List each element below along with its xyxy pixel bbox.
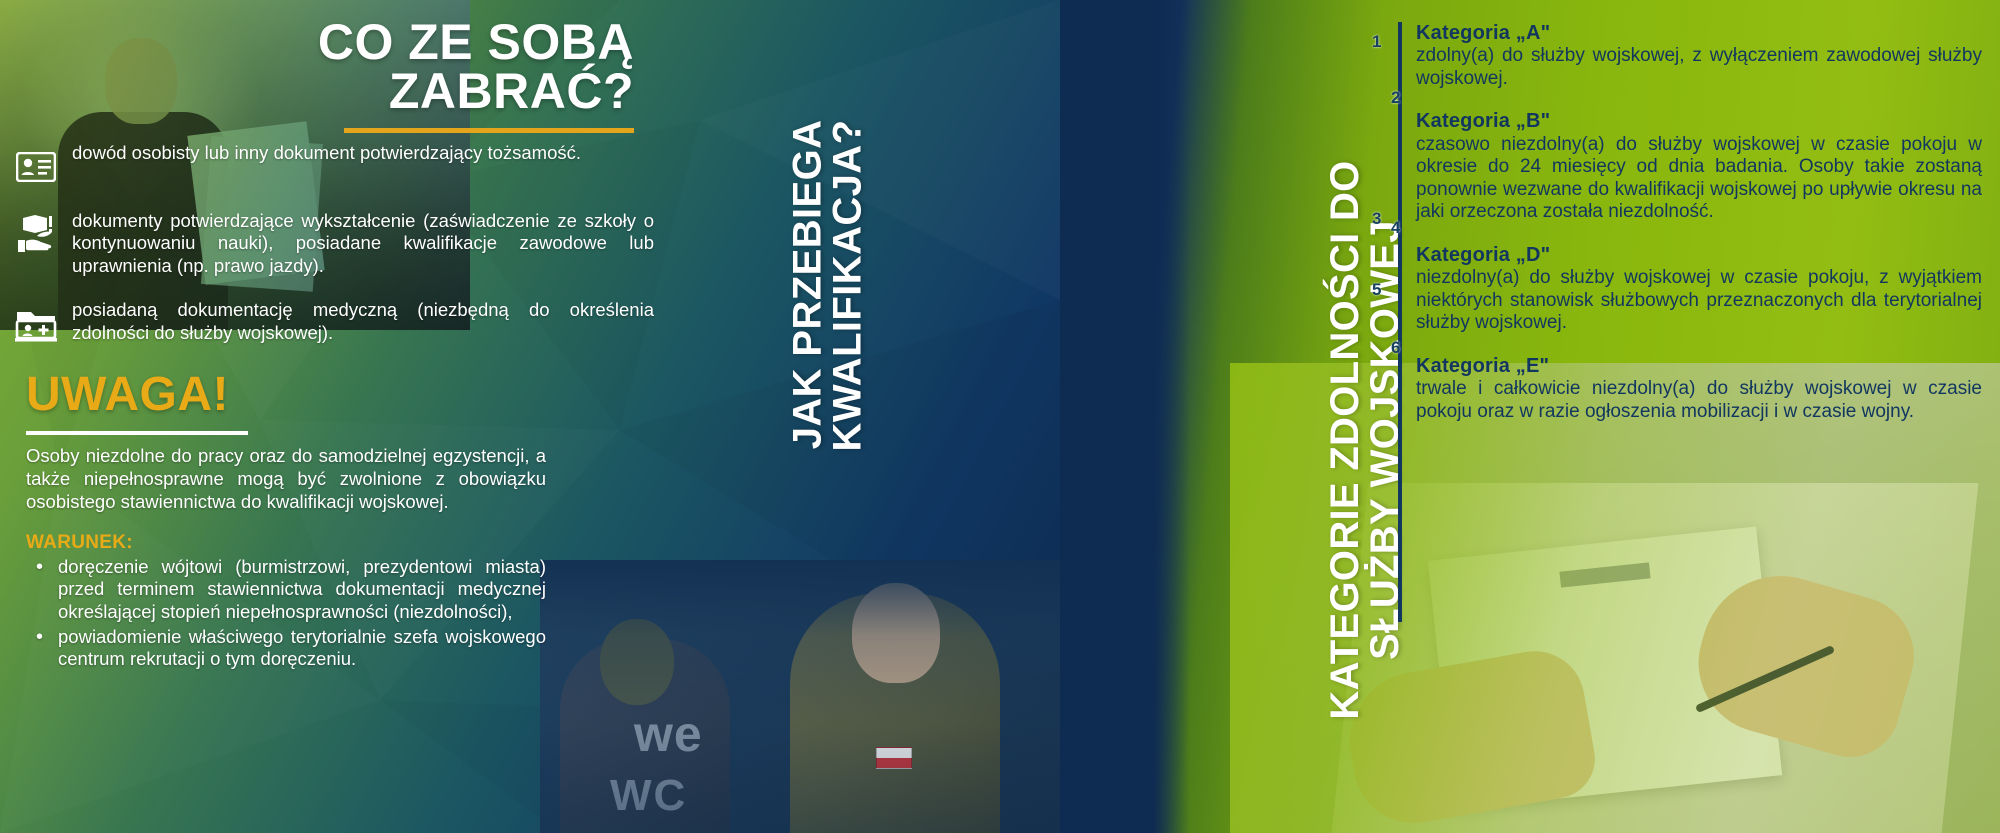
- category-heading: Kategoria „A": [1416, 22, 1982, 45]
- right-navy-divider: [1398, 22, 1402, 622]
- headline-gold-rule: [344, 128, 634, 133]
- notice-block: UWAGA! Osoby niezdolne do pracy oraz do …: [26, 371, 546, 673]
- photo-recruit-and-officer: we WC: [540, 560, 1060, 833]
- right-vertical-title: KATEGORIE ZDOLNOŚCI DO SŁUŻBY WOJSKOWEJ: [1325, 40, 1405, 833]
- headline-line-2: ZABRAĆ?: [0, 67, 634, 116]
- category-heading: Kategoria „E": [1416, 355, 1982, 378]
- category-description: czasowo niezdolny(a) do służby wojskowej…: [1416, 134, 1982, 224]
- notice-paragraph: Osoby niezdolne do pracy oraz do samodzi…: [26, 445, 546, 514]
- right-title-line-1: KATEGORIE ZDOLNOŚCI DO: [1325, 40, 1365, 833]
- category-block: Kategoria „B" czasowo niezdolny(a) do sł…: [1416, 110, 1982, 224]
- list-item-label: dowód osobisty lub inny dokument potwier…: [72, 142, 581, 164]
- category-block: Kategoria „D" niezdolny(a) do służby woj…: [1416, 244, 1982, 335]
- category-block: Kategoria „A" zdolny(a) do służby wojsko…: [1416, 22, 1982, 90]
- notice-white-rule: [26, 431, 248, 435]
- infographic-poster: we WC CO ZE SOBĄ ZABRAĆ?: [0, 0, 2000, 833]
- category-block: Kategoria „E" trwale i całkowicie niezdo…: [1416, 355, 1982, 423]
- list-item-label: dokumenty potwierdzające wykształcenie (…: [72, 210, 654, 277]
- diploma-certificate-icon: [14, 210, 58, 256]
- condition-heading: WARUNEK:: [26, 532, 546, 554]
- medical-folder-icon: [14, 299, 58, 345]
- category-description: trwale i całkowicie niezdolny(a) do służ…: [1416, 378, 1982, 423]
- right-panel: KATEGORIE ZDOLNOŚCI DO SŁUŻBY WOJSKOWEJ …: [1060, 0, 2000, 833]
- category-description: niezdolny(a) do służby wojskowej w czasi…: [1416, 267, 1982, 335]
- photo-fade-overlay: [540, 560, 1060, 833]
- category-heading: Kategoria „B": [1416, 110, 1982, 133]
- category-heading: Kategoria „D": [1416, 244, 1982, 267]
- id-card-icon: [14, 142, 58, 188]
- notice-heading: UWAGA!: [26, 371, 546, 419]
- list-item-label: posiadaną dokumentację medyczną (niezbęd…: [72, 299, 654, 344]
- list-item: powiadomienie właściwego terytorialnie s…: [26, 626, 546, 671]
- headline-line-1: CO ZE SOBĄ: [0, 18, 634, 67]
- list-item: dowód osobisty lub inny dokument potwier…: [14, 142, 654, 188]
- list-item: dokumenty potwierdzające wykształcenie (…: [14, 210, 654, 277]
- list-item: posiadaną dokumentację medyczną (niezbęd…: [14, 299, 654, 345]
- categories-list: Kategoria „A" zdolny(a) do służby wojsko…: [1416, 22, 1982, 443]
- condition-list: doręczenie wójtowi (burmistrzowi, prezyd…: [26, 556, 546, 671]
- right-panel-dark-edge: [1060, 0, 1190, 833]
- left-headline: CO ZE SOBĄ ZABRAĆ?: [0, 18, 648, 133]
- category-description: zdolny(a) do służby wojskowej, z wyłącze…: [1416, 45, 1982, 90]
- list-item: doręczenie wójtowi (burmistrzowi, prezyd…: [26, 556, 546, 624]
- items-to-bring-list: dowód osobisty lub inny dokument potwier…: [14, 142, 654, 367]
- left-panel: we WC CO ZE SOBĄ ZABRAĆ?: [0, 0, 1060, 833]
